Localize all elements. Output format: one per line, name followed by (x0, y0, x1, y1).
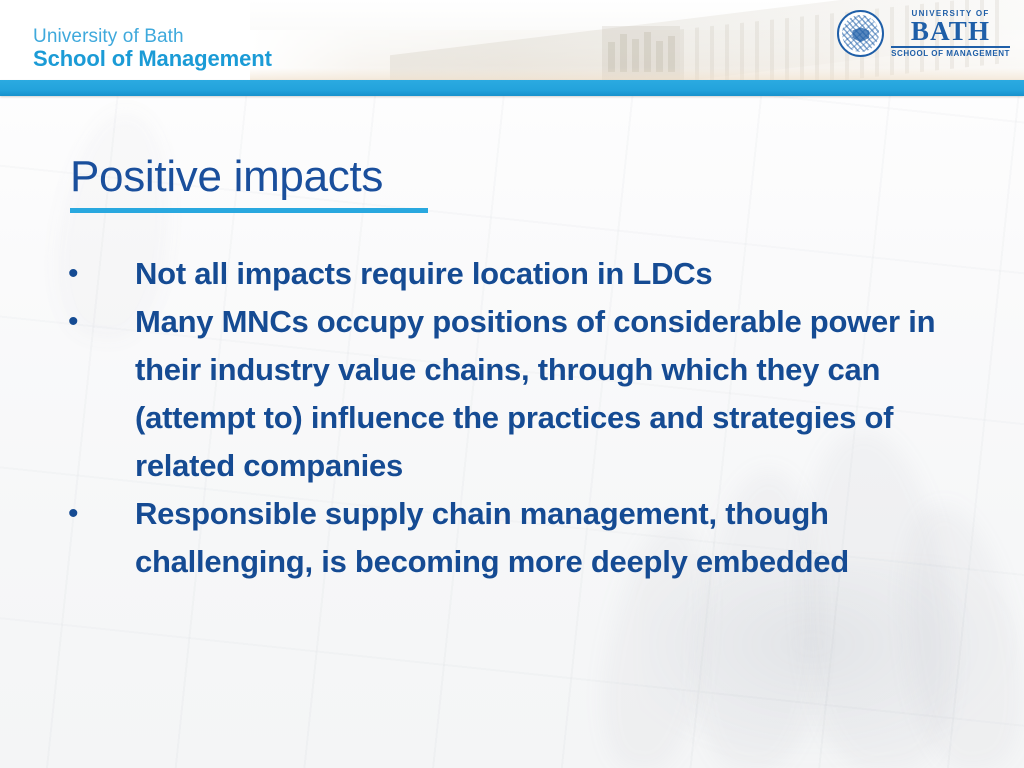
crest-icon (837, 10, 884, 57)
slide-title: Positive impacts (70, 152, 383, 202)
bullet-list: • Not all impacts require location in LD… (62, 250, 962, 586)
header-photo-warm-base (250, 68, 1024, 80)
bullet-marker-icon: • (62, 250, 135, 298)
bullet-text: Responsible supply chain management, tho… (135, 490, 947, 586)
wordmark-line-school: School of Management (33, 47, 272, 70)
crest-divider-rule (891, 46, 1010, 48)
bullet-item: • Not all impacts require location in LD… (62, 250, 962, 298)
header-photo-spire (644, 32, 651, 72)
header-photo-spire (620, 34, 627, 72)
slide: University of Bath School of Management … (0, 0, 1024, 768)
wordmark-line-university: University of Bath (33, 27, 272, 47)
bullet-marker-icon: • (62, 298, 135, 346)
bullet-item: • Many MNCs occupy positions of consider… (62, 298, 962, 490)
university-crest-logo: UNIVERSITY OF BATH SCHOOL OF MANAGEMENT (837, 10, 1010, 58)
header-blue-divider-bar (0, 80, 1024, 96)
bullet-item: • Responsible supply chain management, t… (62, 490, 962, 586)
bullet-text: Many MNCs occupy positions of considerab… (135, 298, 947, 490)
title-underline-rule (70, 208, 428, 213)
crest-text-bath: BATH (891, 19, 1010, 44)
crest-text-school-of-management: SCHOOL OF MANAGEMENT (891, 50, 1010, 58)
bullet-text: Not all impacts require location in LDCs (135, 250, 947, 298)
university-wordmark-logo: University of Bath School of Management (33, 27, 272, 70)
slide-header: University of Bath School of Management … (0, 0, 1024, 80)
bullet-marker-icon: • (62, 490, 135, 538)
header-photo-spire (668, 36, 675, 72)
crest-wordmark: UNIVERSITY OF BATH SCHOOL OF MANAGEMENT (891, 10, 1010, 58)
